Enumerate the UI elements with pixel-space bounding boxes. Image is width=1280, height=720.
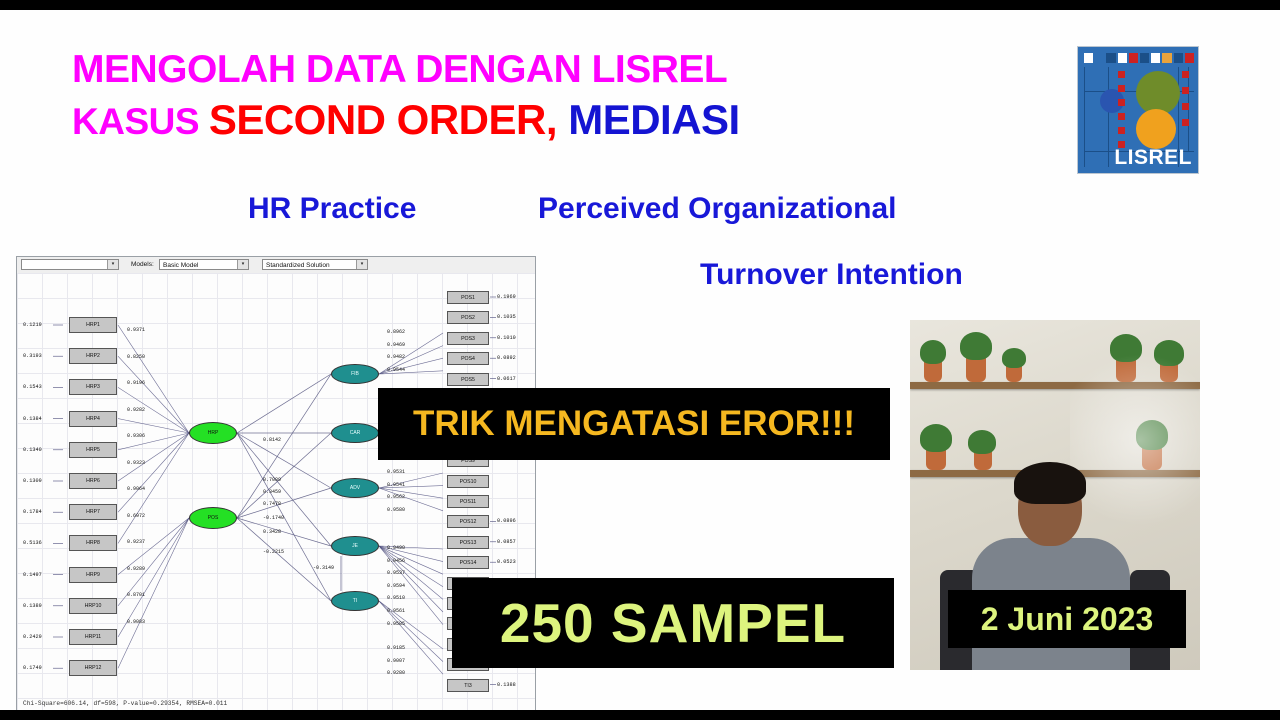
title-block: MENGOLAH DATA DENGAN LISREL KASUS SECOND… (72, 50, 1072, 141)
indicator-box-HRP2: HRP2 (69, 348, 117, 364)
solution-dropdown-value: Standardized Solution (266, 262, 330, 269)
banner-trik-text: TRIK MENGATASI EROR!!! (413, 404, 855, 444)
structural-path-0: 0.8142 (263, 437, 281, 443)
error-value-HRP4: 0.1384 (23, 416, 42, 422)
loading-value-right_loadings_fib-1: 0.9469 (387, 342, 405, 348)
logo-topbar (1084, 53, 1194, 63)
loading-value-right_loadings_je-1: 0.9456 (387, 558, 405, 564)
indicator-box-HRP7: HRP7 (69, 504, 117, 520)
latent-JE: JE (331, 536, 379, 556)
banner-date-text: 2 Juni 2023 (981, 601, 1154, 638)
loading-value-right_loadings_fib-3: 0.9544 (387, 367, 405, 373)
loading-value-left-4: 0.9306 (127, 433, 145, 439)
error-value-HRP11: 0.2429 (23, 634, 42, 640)
solution-dropdown[interactable]: Standardized Solution ▾ (262, 259, 368, 270)
error-value-HRP10: 0.1389 (23, 603, 42, 609)
structural-path-7: -0.3149 (313, 565, 334, 571)
video-thumbnail: MENGOLAH DATA DENGAN LISREL KASUS SECOND… (0, 0, 1280, 720)
left-dropdown[interactable]: ▾ (21, 259, 119, 270)
indicator-box-TI3: TI3 (447, 679, 489, 692)
error-value-HRP6: 0.1309 (23, 478, 42, 484)
error-value-POS5: 0.0617 (497, 376, 516, 382)
loading-value-left-11: 0.9083 (127, 619, 145, 625)
loading-value-left-7: 0.6972 (127, 513, 145, 519)
indicator-box-HRP1: HRP1 (69, 317, 117, 333)
error-value-HRP7: 0.1784 (23, 509, 42, 515)
indicator-box-POS1: POS1 (447, 291, 489, 304)
title-kasus: KASUS (72, 101, 209, 142)
indicator-box-HRP4: HRP4 (69, 411, 117, 427)
loading-value-right_loadings_je-2: 0.9537 (387, 570, 405, 576)
latent-CAR: CAR (331, 423, 379, 443)
loading-value-right_loadings_je-0: 0.9490 (387, 545, 405, 551)
indicator-box-POS5: POS5 (447, 373, 489, 386)
models-dropdown[interactable]: Basic Model ▾ (159, 259, 249, 270)
loading-value-right_loadings_adv-1: 0.9541 (387, 482, 405, 488)
latent-ADV: ADV (331, 478, 379, 498)
error-value-HRP9: 0.1497 (23, 572, 42, 578)
structural-path-6: -0.2215 (263, 549, 284, 555)
indicator-box-POS2: POS2 (447, 311, 489, 324)
loading-value-right_loadings_je-5: 0.9561 (387, 608, 405, 614)
latent-FIB: FIB (331, 364, 379, 384)
slide-canvas: MENGOLAH DATA DENGAN LISREL KASUS SECOND… (0, 10, 1280, 710)
loading-value-left-9: 0.9289 (127, 566, 145, 572)
title-comma: , (546, 96, 568, 143)
error-value-POS13: 0.0857 (497, 539, 516, 545)
indicator-box-POS11: POS11 (447, 495, 489, 508)
loading-value-right_loadings_je-3: 0.9594 (387, 583, 405, 589)
latent-HRP: HRP (189, 422, 237, 444)
loading-value-right_loadings_adv-0: 0.9531 (387, 469, 405, 475)
error-value-TI3: 0.1388 (497, 682, 516, 688)
title-mediasi: MEDIASI (568, 96, 740, 143)
error-value-POS4: 0.0892 (497, 355, 516, 361)
title-line-1: MENGOLAH DATA DENGAN LISREL (72, 50, 1072, 89)
error-value-HRP1: 0.1219 (23, 322, 42, 328)
indicator-box-HRP11: HRP11 (69, 629, 117, 645)
models-label: Models: (131, 261, 154, 268)
loading-value-left-1: 0.8250 (127, 354, 145, 360)
models-dropdown-value: Basic Model (163, 262, 198, 269)
subtitle-turnover-intention: Turnover Intention (700, 258, 963, 292)
loading-value-right_loadings_ti-2: 0.9280 (387, 670, 405, 676)
error-value-HRP3: 0.1543 (23, 384, 42, 390)
chevron-down-icon[interactable]: ▾ (356, 260, 367, 269)
latent-TI: TI (331, 591, 379, 611)
loading-value-right_loadings_ti-1: 0.9007 (387, 658, 405, 664)
loading-value-right_loadings_adv-3: 0.9580 (387, 507, 405, 513)
indicator-box-POS13: POS13 (447, 536, 489, 549)
subtitle-perceived-organizational: Perceived Organizational (538, 192, 896, 226)
loading-value-left-2: 0.9196 (127, 380, 145, 386)
indicator-box-POS10: POS10 (447, 475, 489, 488)
loading-value-left-10: 0.8701 (127, 592, 145, 598)
banner-sampel-text: 250 SAMPEL (500, 591, 846, 655)
indicator-box-HRP8: HRP8 (69, 535, 117, 551)
loading-value-left-0: 0.9371 (127, 327, 145, 333)
error-value-POS3: 0.1010 (497, 335, 516, 341)
loading-value-right_loadings_fib-2: 0.9482 (387, 354, 405, 360)
indicator-box-POS4: POS4 (447, 352, 489, 365)
indicator-box-HRP12: HRP12 (69, 660, 117, 676)
title-second-order: SECOND ORDER (209, 96, 546, 143)
structural-path-2: 0.3459 (263, 489, 281, 495)
fit-statistics: Chi-Square=606.14, df=598, P-value=0.293… (23, 700, 227, 707)
structural-path-3: 0.7478 (263, 501, 281, 507)
loading-value-right_loadings_fib-0: 0.8962 (387, 329, 405, 335)
logo-wordmark: LISREL (1114, 146, 1192, 170)
lisrel-logo: LISREL (1077, 46, 1199, 174)
indicator-box-HRP3: HRP3 (69, 379, 117, 395)
loading-value-left-3: 0.9282 (127, 407, 145, 413)
indicator-box-POS3: POS3 (447, 332, 489, 345)
loading-value-left-6: 0.9064 (127, 486, 145, 492)
error-value-HRP5: 0.1340 (23, 447, 42, 453)
chevron-down-icon[interactable]: ▾ (237, 260, 248, 269)
logo-circle-orange (1136, 109, 1176, 149)
error-value-POS12: 0.0896 (497, 518, 516, 524)
indicator-box-POS14: POS14 (447, 556, 489, 569)
indicator-box-HRP10: HRP10 (69, 598, 117, 614)
loading-value-right_loadings_adv-2: 0.9562 (387, 494, 405, 500)
banner-250-sampel: 250 SAMPEL (452, 578, 894, 668)
error-value-POS2: 0.1035 (497, 314, 516, 320)
error-value-HRP2: 0.3193 (23, 353, 42, 359)
banner-trik-mengatasi-eror: TRIK MENGATASI EROR!!! (378, 388, 890, 460)
structural-path-1: 0.7089 (263, 477, 281, 483)
indicator-box-HRP5: HRP5 (69, 442, 117, 458)
error-value-POS1: 0.1969 (497, 294, 516, 300)
diagram-toolbar: ▾ Models: Basic Model ▾ Standardized Sol… (17, 257, 535, 274)
loading-value-left-5: 0.9323 (127, 460, 145, 466)
subtitle-hr-practice: HR Practice (248, 192, 416, 226)
error-value-POS14: 0.0523 (497, 559, 516, 565)
structural-path-4: -0.1740 (263, 515, 284, 521)
banner-date: 2 Juni 2023 (948, 590, 1186, 648)
indicator-box-POS12: POS12 (447, 515, 489, 528)
latent-POS: POS (189, 507, 237, 529)
chevron-down-icon[interactable]: ▾ (107, 260, 118, 269)
error-value-HRP8: 0.5136 (23, 540, 42, 546)
loading-value-right_loadings_ti-0: 0.9185 (387, 645, 405, 651)
indicator-box-HRP6: HRP6 (69, 473, 117, 489)
indicator-box-HRP9: HRP9 (69, 567, 117, 583)
loading-value-left-8: 0.9237 (127, 539, 145, 545)
error-value-HRP12: 0.1749 (23, 665, 42, 671)
title-line-2: KASUS SECOND ORDER, MEDIASI (72, 99, 1072, 141)
structural-path-5: 0.3428 (263, 529, 281, 535)
loading-value-right_loadings_je-6: 0.9585 (387, 621, 405, 627)
loading-value-right_loadings_je-4: 0.9510 (387, 595, 405, 601)
